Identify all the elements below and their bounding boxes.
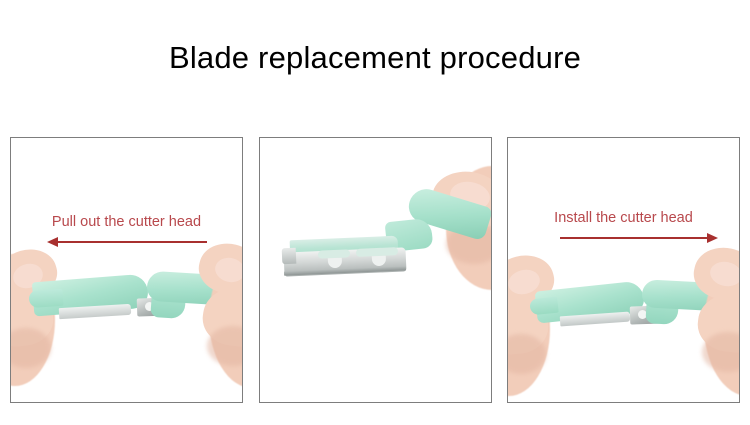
arrow-left-icon — [47, 236, 207, 248]
cutter-head-tip — [28, 289, 63, 308]
panel-pull-out: Pull out the cutter head — [10, 137, 243, 403]
right-hand-shadow — [702, 332, 740, 372]
page-title: Blade replacement procedure — [0, 38, 750, 78]
photo-install: Install the cutter head — [508, 138, 739, 402]
panel-blade-head — [259, 137, 492, 403]
cutter-head-tip — [529, 297, 559, 316]
arrow-right-icon — [560, 232, 718, 244]
right-hand-shadow — [207, 326, 243, 366]
blade-tip — [281, 248, 296, 265]
caption-install: Install the cutter head — [508, 210, 739, 226]
photo-blade-head — [260, 138, 491, 402]
procedure-panels: Pull out the cutter head — [0, 137, 750, 405]
panel-install: Install the cutter head — [507, 137, 740, 403]
caption-pull-out: Pull out the cutter head — [11, 214, 242, 230]
arrow-head — [707, 233, 718, 243]
arrow-shaft — [560, 237, 709, 239]
arrow-shaft — [56, 241, 207, 243]
photo-pull-out: Pull out the cutter head — [11, 138, 242, 402]
